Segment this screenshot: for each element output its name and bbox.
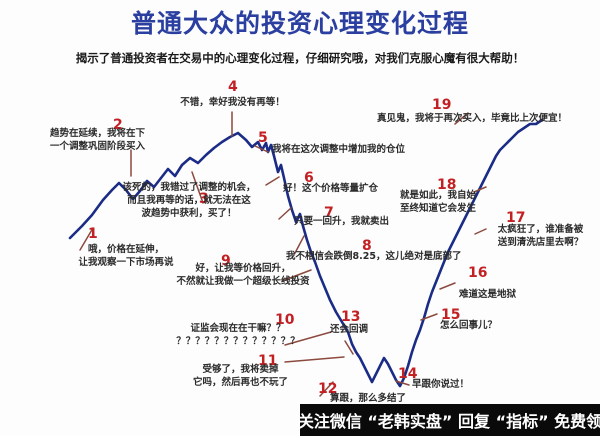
leader-16: [440, 283, 455, 289]
poster-root: 普通大众的投资心理变化过程 揭示了普通投资者在交易中的心理变化过程，仔细研究哦，…: [0, 0, 600, 436]
note-7: 只要一回升，我就卖出: [294, 215, 414, 228]
promo-banner[interactable]: 关注微信 “老韩实盘” 回复 “指标” 免费领: [300, 404, 600, 436]
note-2: 趋势在延续，我将在下一个调整巩固阶段买入: [50, 127, 200, 153]
marker-1[interactable]: 1: [88, 227, 98, 241]
note-3: 该死的，我错过了调整的机会，而且我再等的话，就无法在这波趋势中获利，买了！: [104, 181, 274, 220]
marker-13[interactable]: 13: [341, 310, 360, 324]
leader-11: [285, 357, 344, 362]
marker-5[interactable]: 5: [258, 131, 268, 145]
note-5: 我将在这次调整中增加我的仓位: [272, 143, 442, 156]
note-16: 难道这是地狱: [459, 288, 554, 301]
note-11: 受够了，我将卖掉它吗，然后再也不玩了: [178, 363, 303, 389]
note-9: 好，让我等价格回升，不然就让我做一个超级长线投资: [168, 262, 318, 288]
note-14: 早跟你说过！: [412, 378, 502, 391]
marker-16[interactable]: 16: [468, 266, 487, 280]
leader-7: [279, 208, 291, 219]
promo-banner-text: 关注微信 “老韩实盘” 回复 “指标” 免费领: [298, 408, 600, 432]
marker-4[interactable]: 4: [228, 80, 238, 94]
note-15: 怎么回事儿？: [440, 319, 530, 332]
note-19: 真见鬼，我将于再次买入，毕竟比上次便宜！: [377, 112, 587, 125]
note-4: 不错，幸好我没有再等！: [160, 96, 305, 109]
note-10: 证监会现在在干嘛？？？？？？？？？？？？？？？: [168, 322, 308, 348]
marker-19[interactable]: 19: [432, 98, 451, 112]
note-17: 太疯狂了，谁准备被送到清洗店里去啊？: [483, 223, 598, 249]
note-18: 就是如此，我自始至终知道它会发生: [376, 189, 476, 215]
note-13: 还会回调: [330, 323, 420, 336]
